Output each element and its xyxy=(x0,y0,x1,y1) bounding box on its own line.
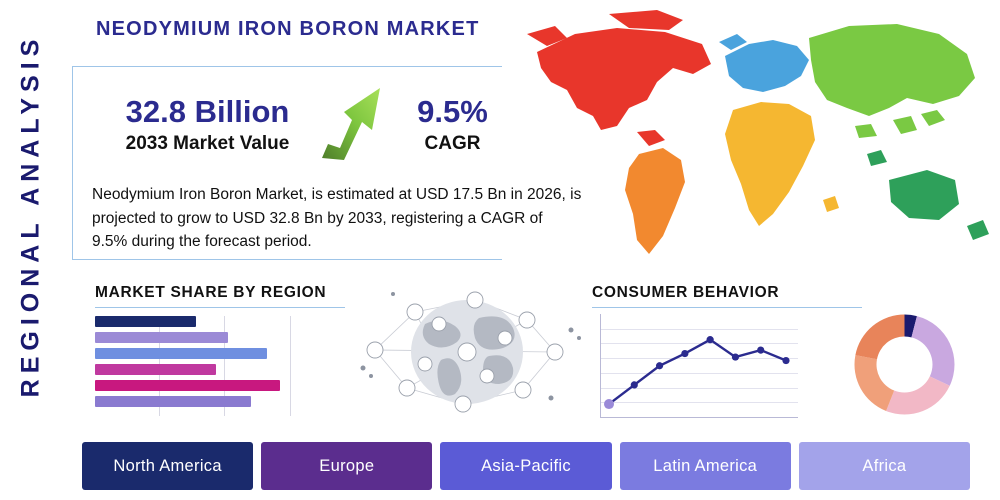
line-chart-point-4 xyxy=(707,336,714,343)
region-button-0[interactable]: North America xyxy=(82,442,253,490)
line-chart-series xyxy=(601,314,798,417)
donut-slice-2 xyxy=(886,376,950,414)
region-button-label: Latin America xyxy=(653,457,757,476)
market-share-bar-chart xyxy=(95,316,290,416)
line-chart-point-2 xyxy=(656,362,663,369)
map-region-africa xyxy=(725,102,839,226)
map-region-south-america xyxy=(625,148,685,254)
donut-slice-3 xyxy=(855,355,895,411)
bar-chart-gridline-2 xyxy=(290,316,291,416)
region-button-4[interactable]: Africa xyxy=(799,442,970,490)
region-button-1[interactable]: Europe xyxy=(261,442,432,490)
market-value-caption: 2033 Market Value xyxy=(100,133,315,155)
consumer-behavior-line-chart xyxy=(600,314,798,418)
world-map-illustration xyxy=(497,4,997,266)
map-region-oceania xyxy=(867,150,989,240)
globe-network-icon xyxy=(355,272,585,427)
region-button-row: North AmericaEuropeAsia-PacificLatin Ame… xyxy=(82,442,970,490)
bar-3 xyxy=(95,364,216,375)
region-button-label: North America xyxy=(113,457,221,476)
region-button-label: Asia-Pacific xyxy=(481,457,571,476)
growth-arrow-icon xyxy=(318,84,388,162)
map-region-europe xyxy=(719,34,809,92)
region-button-label: Europe xyxy=(319,457,374,476)
map-region-asia xyxy=(809,24,975,138)
market-value-number: 32.8 Billion xyxy=(100,96,315,129)
bar-1 xyxy=(95,332,228,343)
line-chart-point-3 xyxy=(681,350,688,357)
region-button-label: Africa xyxy=(862,457,906,476)
region-button-2[interactable]: Asia-Pacific xyxy=(440,442,611,490)
regional-analysis-text: REGIONAL ANALYSIS xyxy=(17,33,46,397)
line-chart-point-5 xyxy=(732,353,739,360)
line-chart-point-6 xyxy=(757,347,764,354)
donut-slice-1 xyxy=(911,316,954,386)
line-chart-point-1 xyxy=(631,381,638,388)
bar-0 xyxy=(95,316,196,327)
market-share-divider xyxy=(95,307,345,308)
page-title: NEODYMIUM IRON BORON MARKET xyxy=(96,18,480,41)
donut-slice-4 xyxy=(855,315,904,360)
consumer-behavior-heading: CONSUMER BEHAVIOR xyxy=(592,284,779,302)
bar-5 xyxy=(95,396,251,407)
market-value-kpi: 32.8 Billion 2033 Market Value xyxy=(100,96,315,155)
regional-analysis-label: REGIONAL ANALYSIS xyxy=(0,0,62,430)
consumer-behavior-divider xyxy=(592,307,862,308)
map-region-north-america xyxy=(527,10,711,146)
bar-2 xyxy=(95,348,267,359)
region-button-3[interactable]: Latin America xyxy=(620,442,791,490)
consumer-behavior-donut-chart xyxy=(852,312,957,417)
line-chart-point-7 xyxy=(782,357,789,364)
market-share-heading: MARKET SHARE BY REGION xyxy=(95,284,326,302)
line-chart-point-0 xyxy=(604,399,614,409)
bar-4 xyxy=(95,380,280,391)
